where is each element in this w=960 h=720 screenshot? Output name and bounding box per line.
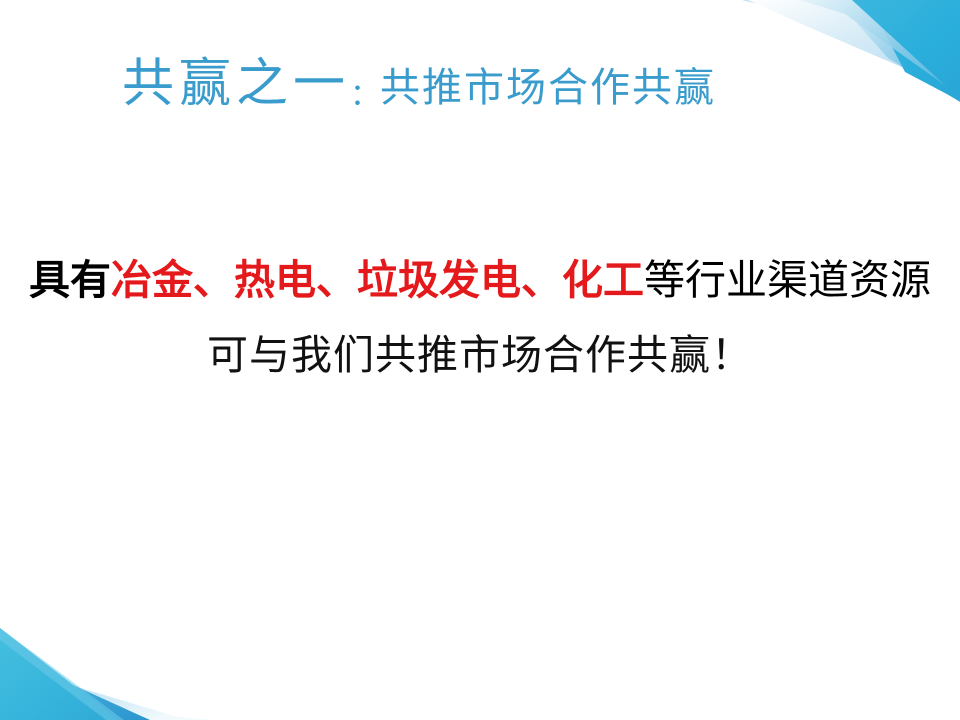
slide-body: 具有冶金、热电、垃圾发电、化工等行业渠道资源 可与我们共推市场合作共赢！ (0, 243, 960, 393)
deco-top-right-dark (868, 0, 960, 101)
body-line-1-segment-black: 具有 (29, 257, 111, 303)
slide-title: 共赢之一：共推市场合作共赢 (122, 58, 716, 110)
deco-top-right-pale (748, 0, 960, 92)
body-line-1-segment-red: 冶金、热电、垃圾发电、化工 (111, 257, 644, 303)
title-subtitle-text: 共推市场合作共赢 (380, 65, 716, 111)
deco-bottom-left-blue (0, 652, 150, 720)
body-line-1: 具有冶金、热电、垃圾发电、化工等行业渠道资源 (0, 243, 960, 318)
body-line-2: 可与我们共推市场合作共赢！ (0, 318, 960, 393)
body-line-1-segment-tail: 等行业渠道资源 (644, 257, 931, 303)
deco-top-right-band (800, 0, 960, 96)
slide-canvas: 共赢之一：共推市场合作共赢 具有冶金、热电、垃圾发电、化工等行业渠道资源 可与我… (0, 0, 960, 720)
deco-bottom-left-highlight (0, 628, 124, 720)
deco-top-right-mid (836, 0, 960, 102)
deco-bottom-left-pale2 (0, 664, 188, 720)
deco-top-right-sliver (742, 0, 960, 18)
deco-top-right-corner-fill (880, 0, 960, 100)
deco-top-right-main (852, 0, 960, 99)
title-main-text: 共赢之一 (122, 54, 350, 114)
title-separator: ： (350, 78, 380, 113)
deco-bottom-left-pale (0, 700, 212, 720)
deco-bottom-left-teal (0, 628, 118, 720)
